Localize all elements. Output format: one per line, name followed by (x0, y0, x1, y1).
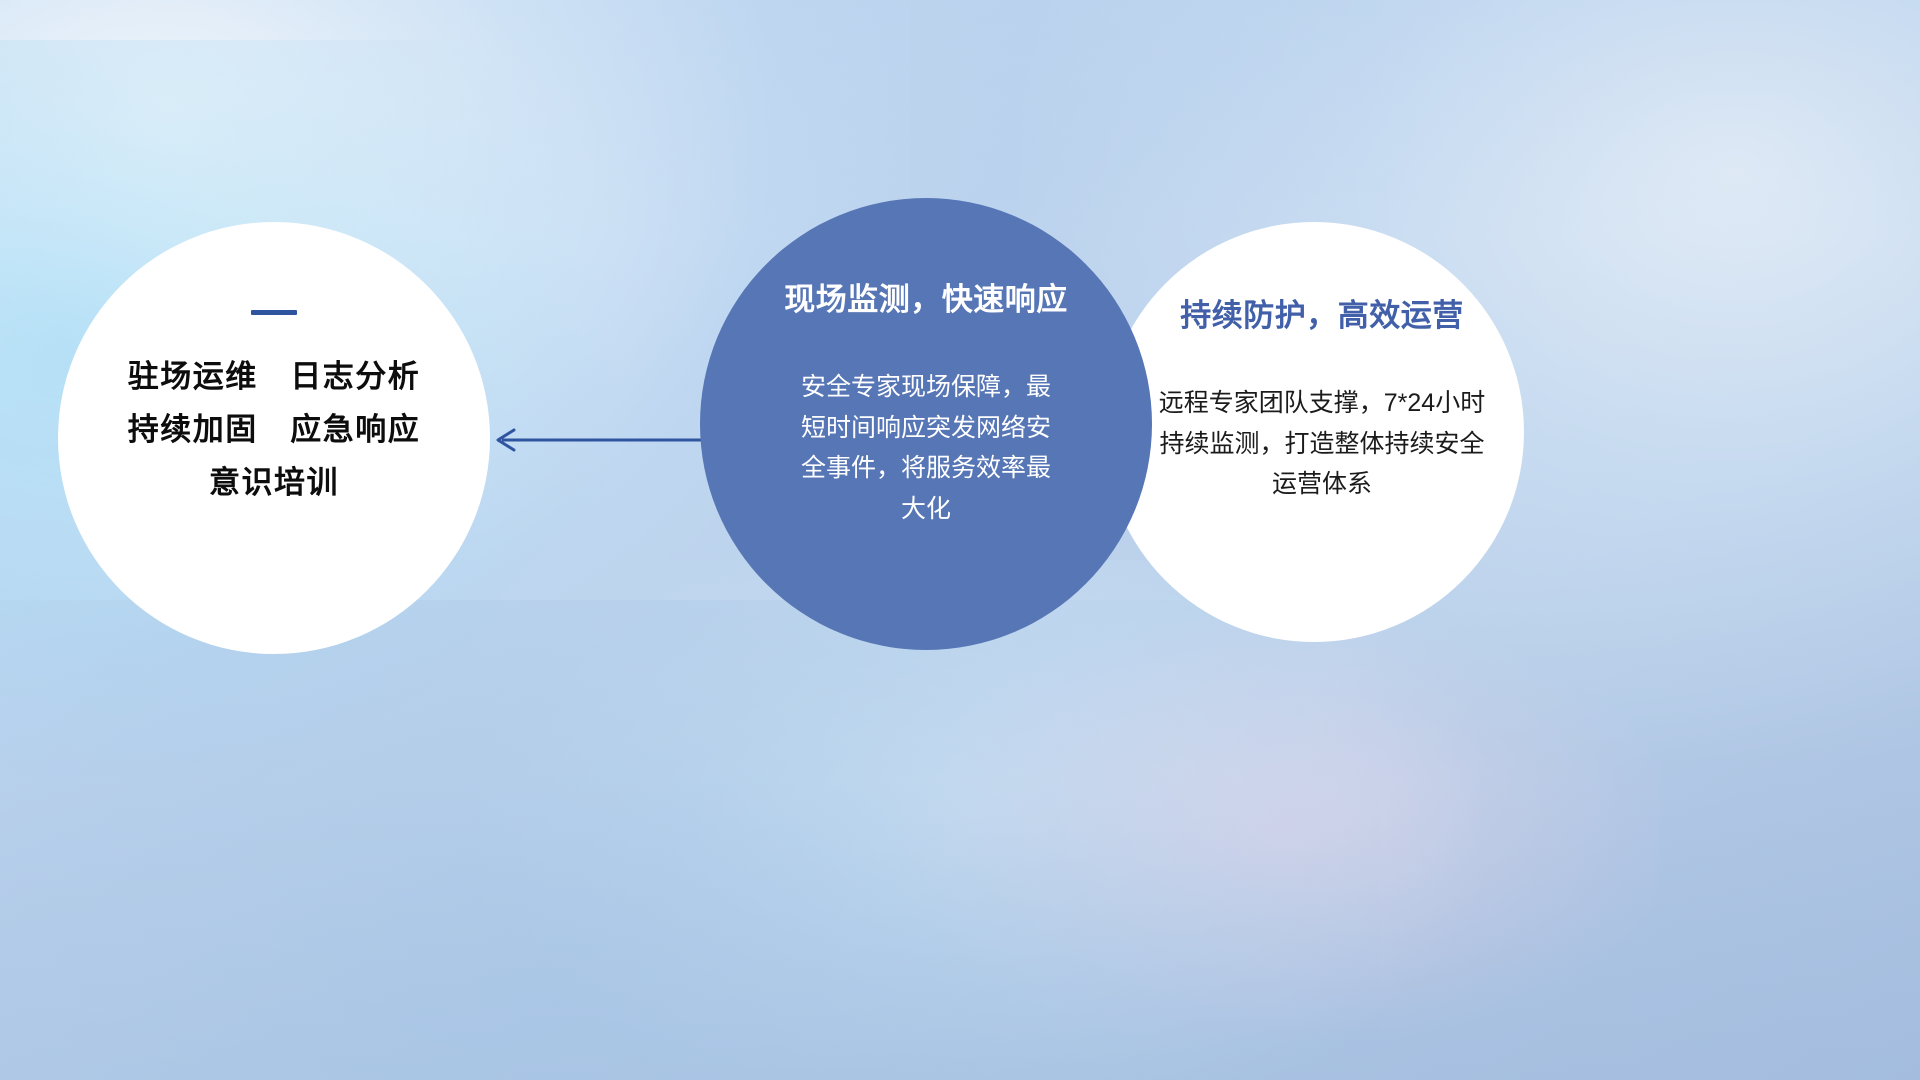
list-item: 意识培训 (209, 467, 339, 498)
list-item: 持续加固 应急响应 (128, 414, 421, 445)
flow-arrow-icon (488, 412, 716, 468)
middle-circle-body: 安全专家现场保障，最短时间响应突发网络安全事件，将服务效率最大化 (792, 367, 1060, 529)
middle-circle-title: 现场监测，快速响应 (784, 284, 1068, 315)
right-circle-body: 远程专家团队支撑，7*24小时持续监测，打造整体持续安全运营体系 (1152, 383, 1492, 505)
right-service-circle[interactable]: 持续防护，高效运营 远程专家团队支撑，7*24小时持续监测，打造整体持续安全运营… (1104, 222, 1524, 642)
divider-dash-icon (251, 310, 297, 315)
left-service-list: 驻场运维 日志分析 持续加固 应急响应 意识培训 (128, 361, 421, 498)
list-item: 驻场运维 日志分析 (128, 361, 421, 392)
slide-canvas: 驻场运维 日志分析 持续加固 应急响应 意识培训 持续防护，高效运营 远程专家团… (0, 0, 1920, 1080)
middle-service-circle[interactable]: 现场监测，快速响应 安全专家现场保障，最短时间响应突发网络安全事件，将服务效率最… (700, 198, 1152, 650)
left-service-circle[interactable]: 驻场运维 日志分析 持续加固 应急响应 意识培训 (58, 222, 490, 654)
right-circle-title: 持续防护，高效运营 (1180, 300, 1464, 331)
